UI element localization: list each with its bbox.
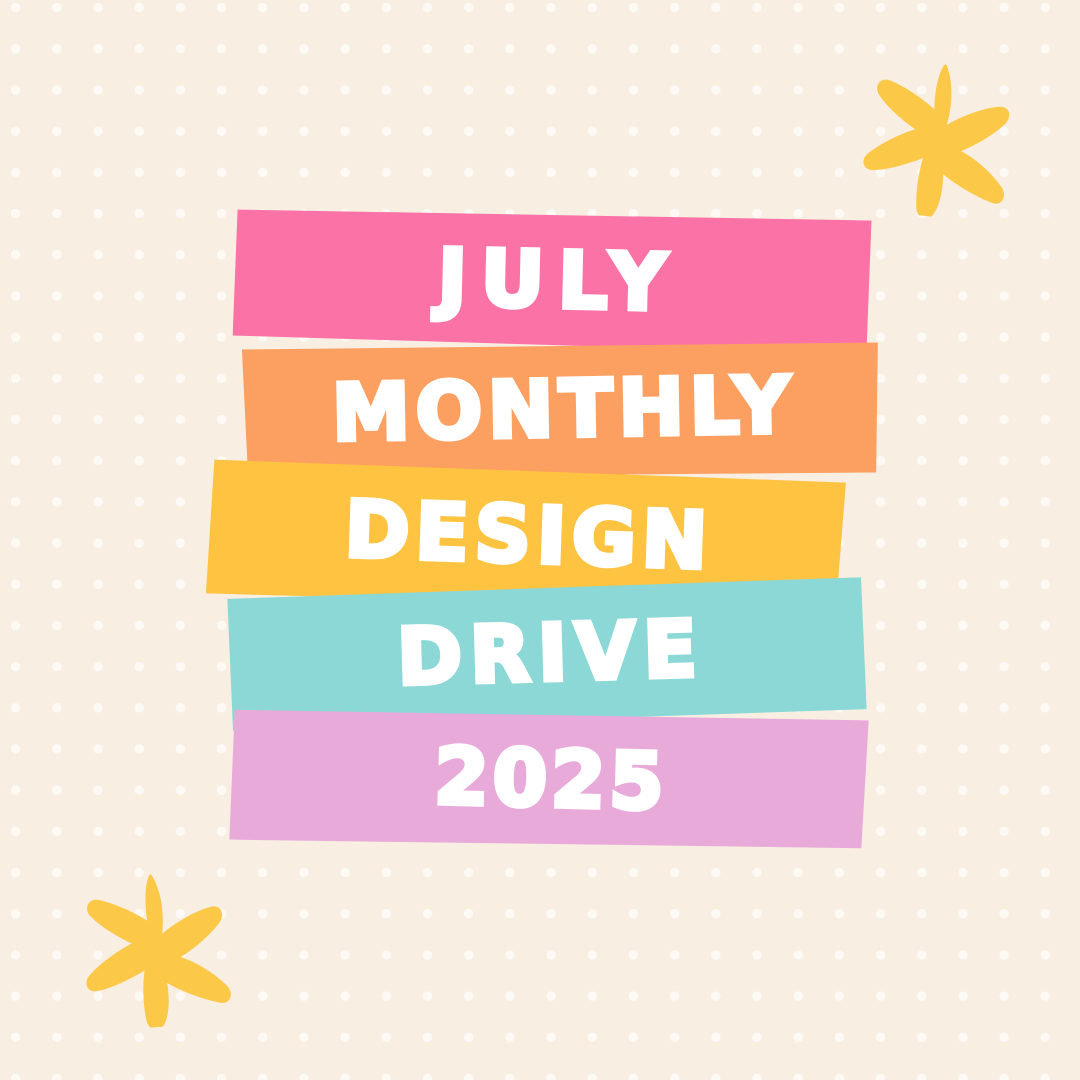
banner-label: MONTHLY xyxy=(325,367,796,453)
banner-label: DESIGN xyxy=(338,491,715,581)
banner-july: JULY xyxy=(232,206,871,357)
banner-label: DRIVE xyxy=(388,611,706,698)
banner-stack: JULY MONTHLY DESIGN xyxy=(0,0,1080,1080)
poster-canvas: JULY MONTHLY DESIGN xyxy=(0,0,1080,1080)
banner-label: 2025 xyxy=(429,738,668,822)
banner-2025: 2025 xyxy=(229,704,868,857)
banner-label: JULY xyxy=(423,239,681,323)
